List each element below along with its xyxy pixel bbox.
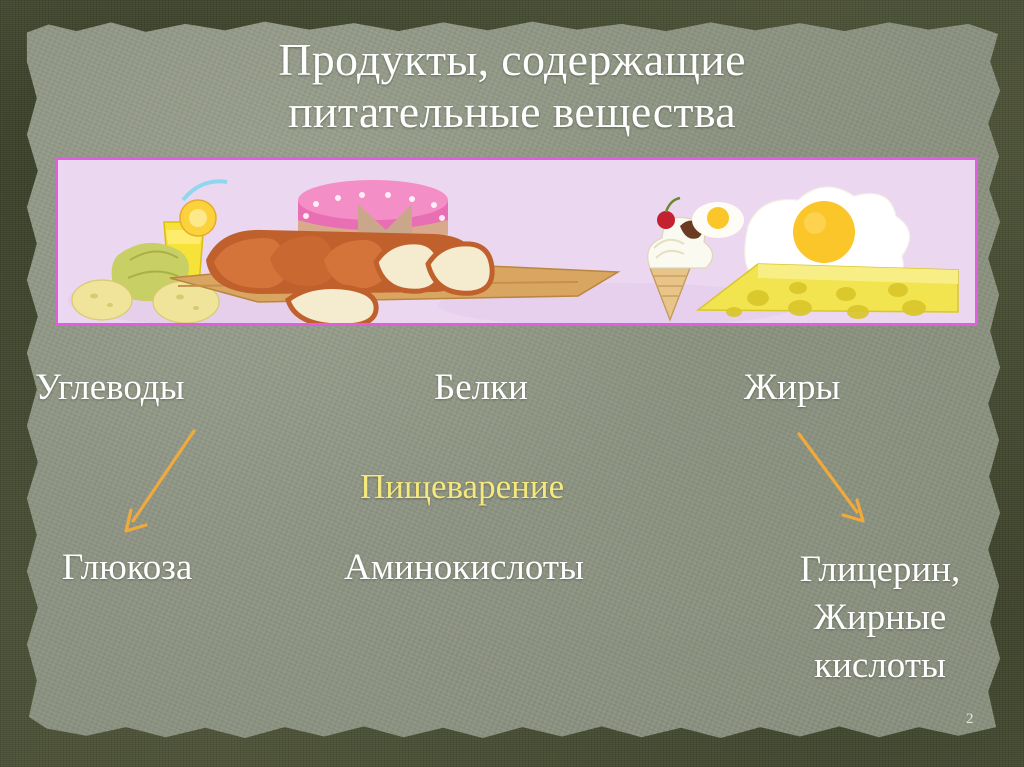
food-illustration-panel xyxy=(55,157,978,326)
arrow-carbohydrates-to-glucose-head xyxy=(126,510,146,531)
page-title-line-2: питательные вещества xyxy=(130,86,894,138)
arrow-carbohydrates-to-glucose-line xyxy=(133,431,194,521)
slide-content: Продукты, содержащие питательные веществ… xyxy=(0,0,1024,767)
arrow-fats-to-glycerin-line xyxy=(799,434,857,512)
label-amino-acids: Аминокислоты xyxy=(344,546,584,590)
label-glucose: Глюкоза xyxy=(62,546,192,590)
page-title-line-1: Продукты, содержащие xyxy=(278,34,746,85)
label-digestion: Пищеварение xyxy=(360,466,564,508)
page-title: Продукты, содержащие питательные веществ… xyxy=(130,34,894,138)
label-fats: Жиры xyxy=(744,366,840,410)
presentation-slide: Продукты, содержащие питательные веществ… xyxy=(0,0,1024,767)
label-proteins: Белки xyxy=(434,366,528,410)
label-glycerin-fatty-acids: Глицерин, Жирные кислоты xyxy=(750,546,1010,690)
label-carbohydrates: Углеводы xyxy=(35,366,184,410)
arrow-fats-to-glycerin-head xyxy=(843,500,863,521)
slide-number: 2 xyxy=(966,711,974,728)
food-illustration-image xyxy=(58,160,975,323)
